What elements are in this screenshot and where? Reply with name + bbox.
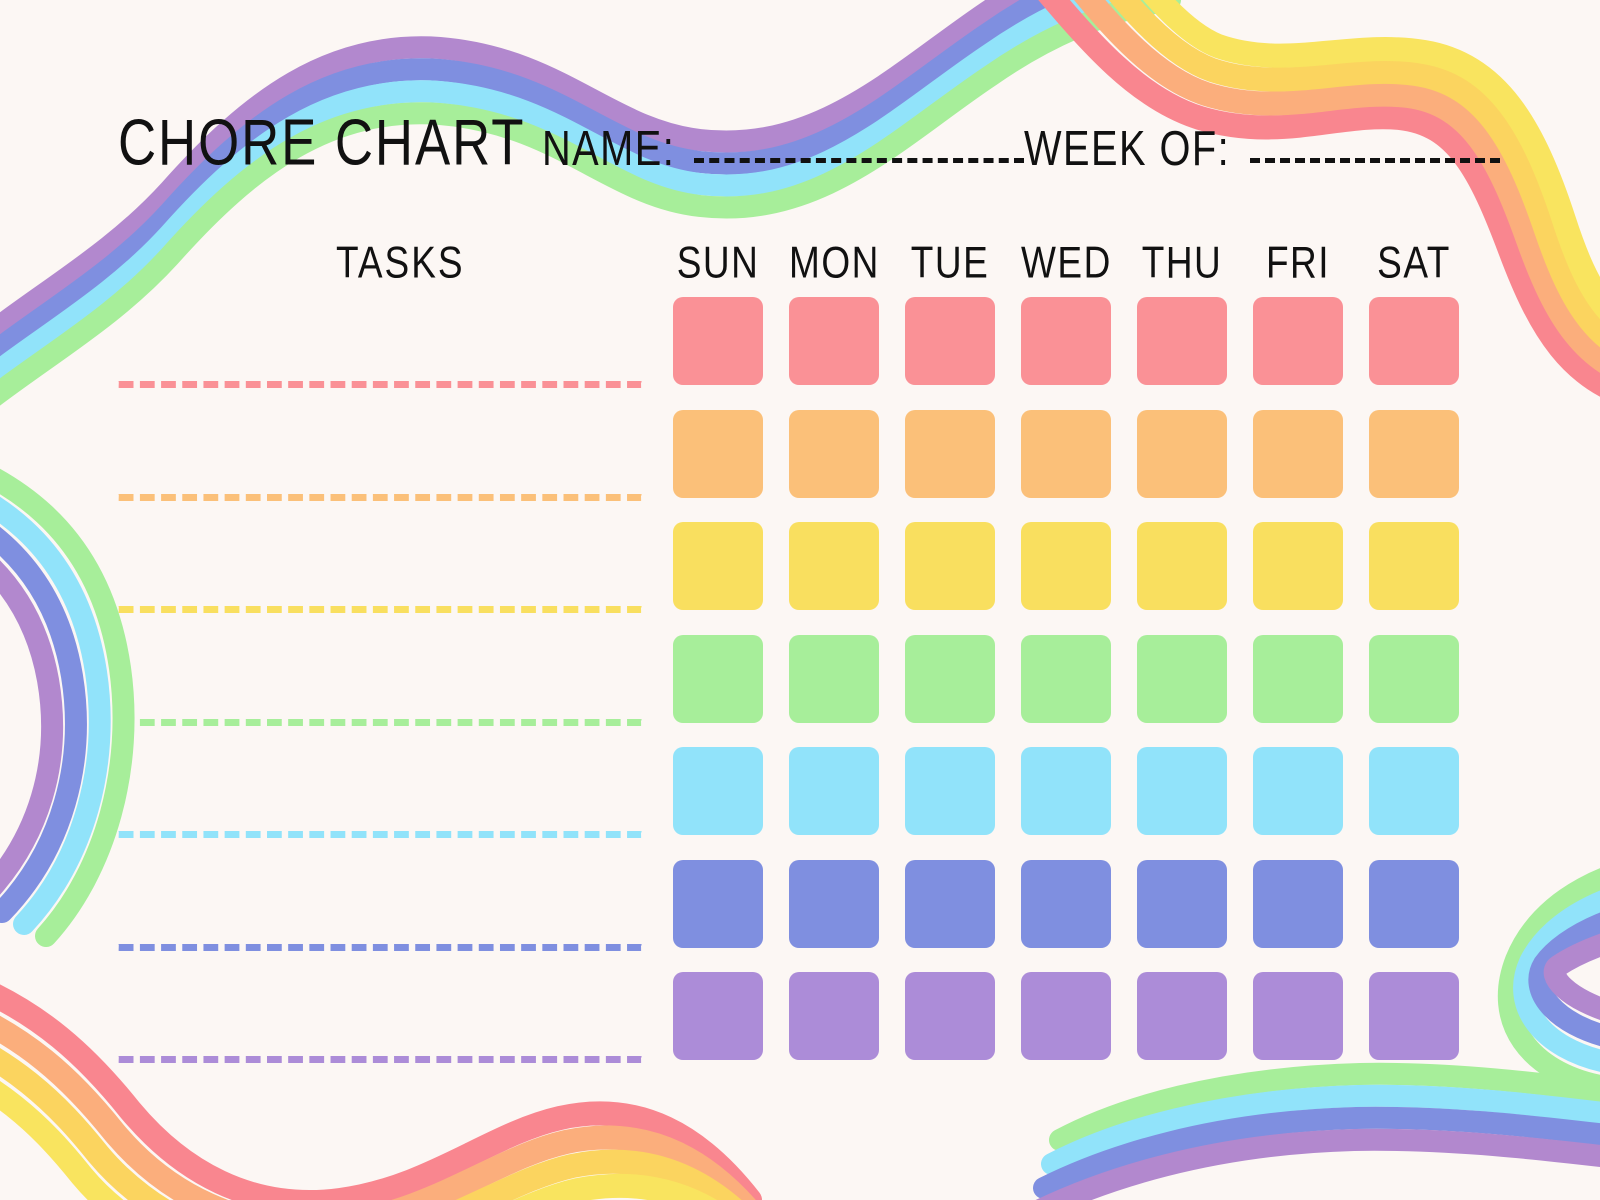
chore-cell-row5-fri[interactable] (1253, 747, 1343, 835)
chore-cell-row1-fri[interactable] (1253, 297, 1343, 385)
chore-cell-row1-mon[interactable] (789, 297, 879, 385)
chore-cell-row6-tue[interactable] (905, 860, 995, 948)
chore-chart-page: CHORE CHART NAME: WEEK OF: TASKS SUNMONT… (0, 0, 1600, 1200)
chore-cell-row1-tue[interactable] (905, 297, 995, 385)
chore-cell-row1-sun[interactable] (673, 297, 763, 385)
day-header-thu: THU (1137, 238, 1227, 288)
chore-cell-row3-tue[interactable] (905, 522, 995, 610)
task-input-row-1[interactable] (116, 381, 644, 388)
page-title: CHORE CHART (118, 104, 525, 180)
chore-cell-row5-tue[interactable] (905, 747, 995, 835)
chore-cell-row2-sat[interactable] (1369, 410, 1459, 498)
chore-cell-row1-wed[interactable] (1021, 297, 1111, 385)
day-header-fri: FRI (1253, 238, 1343, 288)
week-of-label: WEEK OF: (1024, 121, 1230, 177)
week-of-input[interactable] (1250, 158, 1500, 163)
chore-cell-row7-sun[interactable] (673, 972, 763, 1060)
chore-cell-row4-sun[interactable] (673, 635, 763, 723)
chore-cell-row6-thu[interactable] (1137, 860, 1227, 948)
name-input[interactable] (694, 158, 1024, 163)
task-input-row-7[interactable] (116, 1056, 644, 1063)
chore-cell-row2-wed[interactable] (1021, 410, 1111, 498)
chore-cell-row4-fri[interactable] (1253, 635, 1343, 723)
chore-cell-row2-sun[interactable] (673, 410, 763, 498)
chore-cell-row6-sun[interactable] (673, 860, 763, 948)
chore-cell-row1-sat[interactable] (1369, 297, 1459, 385)
day-header-wed: WED (1021, 238, 1111, 288)
task-input-row-3[interactable] (116, 606, 644, 613)
day-header-tue: TUE (905, 238, 995, 288)
chore-cell-row3-mon[interactable] (789, 522, 879, 610)
chore-cell-row4-wed[interactable] (1021, 635, 1111, 723)
chore-cell-row3-thu[interactable] (1137, 522, 1227, 610)
chore-cell-row2-thu[interactable] (1137, 410, 1227, 498)
header: CHORE CHART NAME: WEEK OF: (118, 116, 1478, 188)
chore-cell-row7-wed[interactable] (1021, 972, 1111, 1060)
day-header-mon: MON (789, 238, 879, 288)
chore-cell-row7-fri[interactable] (1253, 972, 1343, 1060)
task-input-row-6[interactable] (116, 944, 644, 951)
chore-cell-row4-tue[interactable] (905, 635, 995, 723)
chore-cell-row5-thu[interactable] (1137, 747, 1227, 835)
week-field-group: WEEK OF: (1024, 130, 1500, 177)
chore-cell-row3-sun[interactable] (673, 522, 763, 610)
chore-cell-row6-wed[interactable] (1021, 860, 1111, 948)
chore-cell-row3-fri[interactable] (1253, 522, 1343, 610)
chore-cell-row2-fri[interactable] (1253, 410, 1343, 498)
chore-cell-row5-wed[interactable] (1021, 747, 1111, 835)
chore-cell-row7-thu[interactable] (1137, 972, 1227, 1060)
chore-cell-row4-mon[interactable] (789, 635, 879, 723)
chore-cell-row2-tue[interactable] (905, 410, 995, 498)
chore-cell-row3-wed[interactable] (1021, 522, 1111, 610)
task-input-row-2[interactable] (116, 494, 644, 501)
name-field-group: NAME: (542, 130, 1023, 177)
task-input-row-4[interactable] (116, 719, 644, 726)
chore-cell-row1-thu[interactable] (1137, 297, 1227, 385)
chore-cell-row4-thu[interactable] (1137, 635, 1227, 723)
chore-cell-row3-sat[interactable] (1369, 522, 1459, 610)
chore-cell-row6-fri[interactable] (1253, 860, 1343, 948)
chore-cell-row5-mon[interactable] (789, 747, 879, 835)
top-left-rainbow-loop (0, 432, 124, 936)
chore-cell-row5-sat[interactable] (1369, 747, 1459, 835)
chore-cell-row4-sat[interactable] (1369, 635, 1459, 723)
name-label: NAME: (542, 121, 675, 177)
chore-cell-row2-mon[interactable] (789, 410, 879, 498)
chore-cell-row6-mon[interactable] (789, 860, 879, 948)
chore-cell-row7-sat[interactable] (1369, 972, 1459, 1060)
chore-cell-row5-sun[interactable] (673, 747, 763, 835)
chore-cell-row7-tue[interactable] (905, 972, 995, 1060)
chore-cell-row6-sat[interactable] (1369, 860, 1459, 948)
day-header-sat: SAT (1369, 238, 1459, 288)
task-input-row-5[interactable] (116, 831, 644, 838)
bottom-left-rainbow-ribbon (0, 980, 786, 1200)
tasks-column-heading: TASKS (336, 238, 465, 288)
chore-cell-row7-mon[interactable] (789, 972, 879, 1060)
day-header-sun: SUN (673, 238, 763, 288)
